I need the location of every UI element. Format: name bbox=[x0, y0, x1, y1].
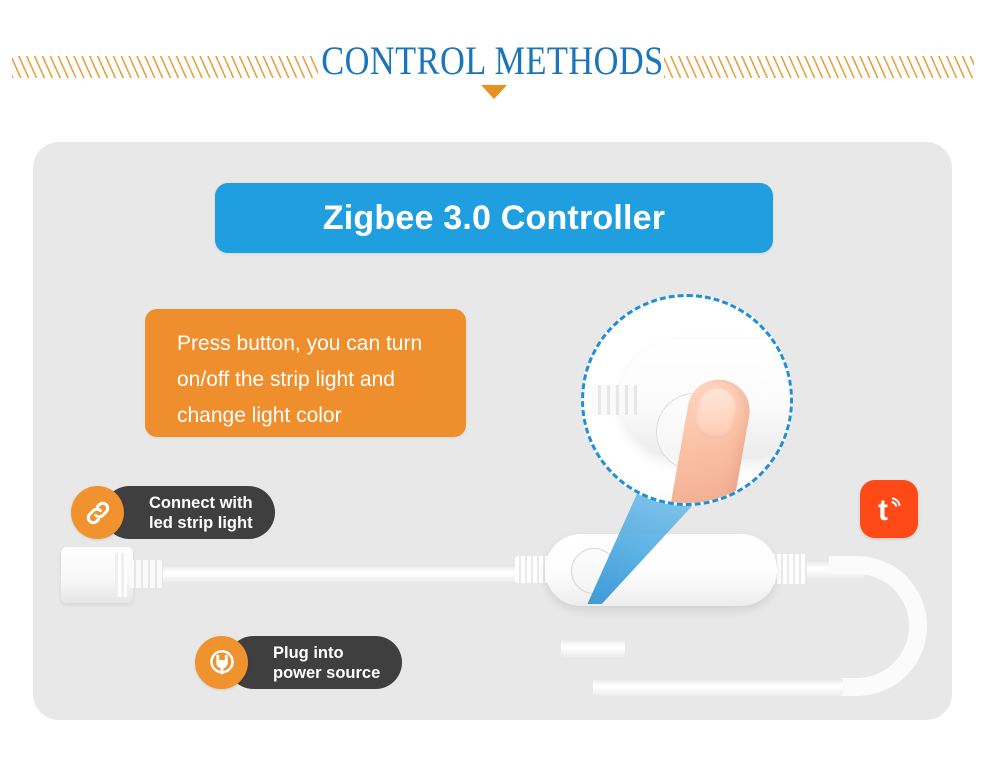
tuya-logo: t bbox=[860, 480, 918, 538]
cable-ferrule-left bbox=[515, 556, 549, 583]
svg-text:t: t bbox=[878, 494, 888, 527]
badge-power-line-1: Plug into bbox=[273, 643, 380, 663]
page-title: CONTROL METHODS bbox=[69, 38, 916, 84]
instruction-callout: Press button, you can turn on/off the st… bbox=[145, 309, 466, 437]
badge-connect-text: Connect with led strip light bbox=[103, 486, 275, 539]
led-strip-connector bbox=[61, 547, 133, 603]
callout-line-1: Press button, you can turn bbox=[177, 326, 466, 362]
caret-down-icon bbox=[481, 85, 507, 99]
strip-connector-plug bbox=[129, 560, 163, 588]
power-plug-icon bbox=[195, 636, 248, 689]
inline-controller-body bbox=[545, 534, 777, 606]
cable-return-run bbox=[593, 678, 843, 696]
led-strip-cable bbox=[129, 565, 521, 582]
badge-plug-power-source: Plug into power source bbox=[195, 636, 402, 689]
badge-connect-line-2: led strip light bbox=[149, 513, 253, 533]
magnifier-circle bbox=[581, 294, 793, 506]
page-header: CONTROL METHODS bbox=[0, 0, 985, 118]
link-icon bbox=[71, 486, 124, 539]
badge-power-line-2: power source bbox=[273, 663, 380, 683]
usb-cable bbox=[561, 638, 625, 657]
cable-u-turn bbox=[829, 556, 927, 696]
badge-connect-led-strip: Connect with led strip light bbox=[71, 486, 275, 539]
badge-power-text: Plug into power source bbox=[227, 636, 402, 689]
fingernail bbox=[693, 385, 739, 441]
magnified-connector bbox=[592, 385, 638, 415]
callout-line-3: change light color bbox=[177, 398, 466, 434]
product-banner: Zigbee 3.0 Controller bbox=[215, 183, 773, 253]
content-card: Zigbee 3.0 Controller Press button, you … bbox=[33, 142, 952, 720]
callout-line-2: on/off the strip light and bbox=[177, 362, 466, 398]
badge-connect-line-1: Connect with bbox=[149, 493, 253, 513]
magnifier-contents bbox=[584, 297, 790, 503]
